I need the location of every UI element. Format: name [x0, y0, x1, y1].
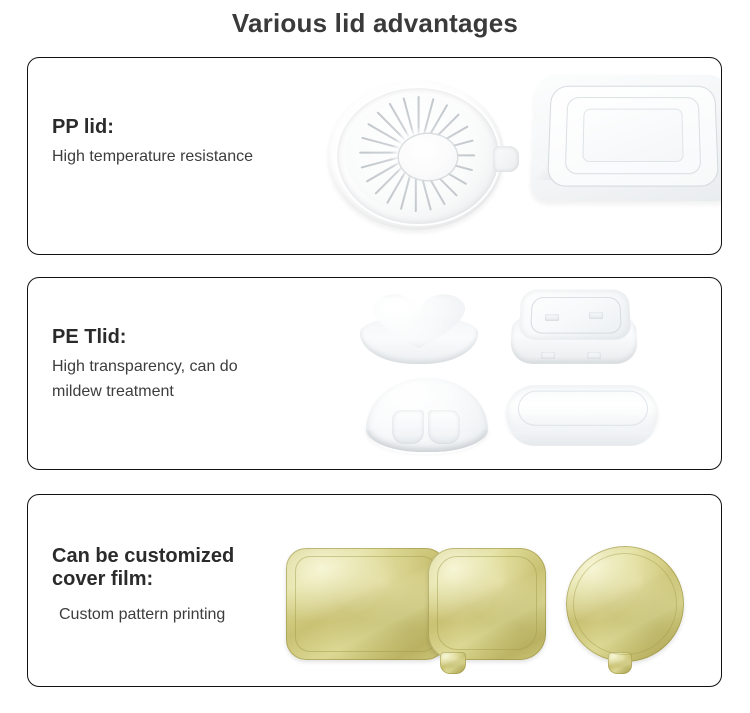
pe-heart-lid-highlight — [380, 300, 420, 314]
pp-rectangular-lid-image — [533, 72, 722, 212]
pp-lid-subtext: High temperature resistance — [52, 145, 253, 170]
pp-round-lid-center-hub — [399, 134, 457, 180]
cover-film-text-block: Can be customized cover film: Custom pat… — [52, 545, 234, 628]
gold-square-lid-tab — [440, 652, 466, 674]
pp-lid-heading: PP lid: — [52, 116, 253, 139]
pe-lid-text-block: PE Tlid: High transparency, can do milde… — [52, 326, 238, 405]
pp-rect-lid-ring-inner — [582, 109, 683, 162]
pp-round-lid-rib — [417, 96, 419, 136]
pp-round-lid-tab — [493, 146, 519, 172]
pe-heart-dome-lid-image — [358, 290, 488, 370]
pe-oval-lid-ring — [517, 391, 649, 426]
gold-foil-round-lid-image — [566, 546, 696, 678]
pp-round-ribbed-lid-image — [328, 74, 528, 239]
pp-lid-text-block: PP lid: High temperature resistance — [52, 116, 253, 170]
pe-square-dome-lid-image — [511, 286, 651, 374]
cover-film-heading: Can be customized cover film: — [52, 545, 234, 591]
pe-round-dome-lid-image — [366, 378, 496, 458]
page-title: Various lid advantages — [0, 8, 750, 39]
pe-square-lid-notch-left — [545, 314, 559, 321]
panel-pe-lid: PE Tlid: High transparency, can do milde… — [27, 277, 722, 470]
pe-lid-heading: PE Tlid: — [52, 326, 238, 349]
gold-square-lid-inner-edge — [437, 556, 537, 650]
pp-round-lid-rib — [361, 156, 400, 169]
pe-dome-lid-rim — [367, 430, 487, 454]
gold-foil-square-lid-image — [428, 548, 558, 678]
cover-film-subtext: Custom pattern printing — [52, 597, 234, 628]
pe-square-lid-inner-panel — [530, 297, 622, 334]
panel-pp-lid: PP lid: High temperature resistance — [27, 57, 722, 255]
gold-round-lid-tab — [608, 652, 632, 674]
gold-round-lid-inner-edge — [573, 553, 677, 655]
pe-square-lid-notch-front-left — [541, 352, 555, 359]
pe-lid-subtext: High transparency, can do mildew treatme… — [52, 355, 238, 405]
pe-oval-flat-lid-image — [506, 384, 666, 454]
pe-square-lid-notch-front-right — [587, 352, 601, 359]
pe-square-lid-notch-right — [589, 312, 603, 319]
pp-round-lid-rib — [359, 152, 399, 154]
gold-rect-lid-inner-edge — [295, 556, 437, 652]
